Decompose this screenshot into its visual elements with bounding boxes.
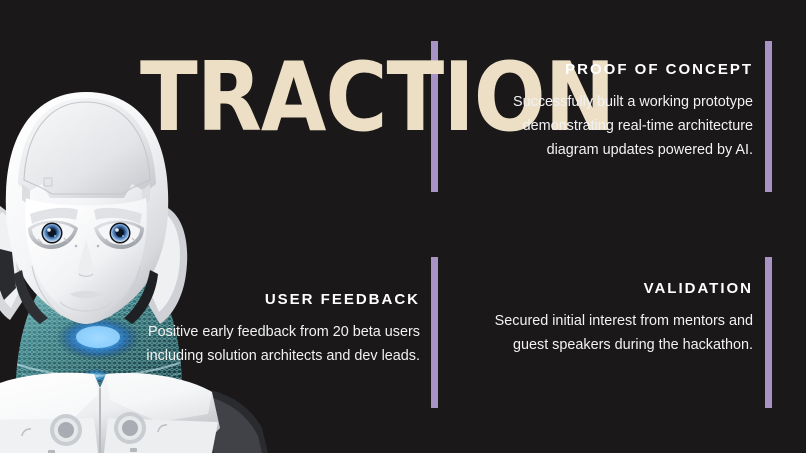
body-validation: Secured initial interest from mentors an… — [478, 309, 753, 357]
presentation-slide: TRACTION PROOF OF CONCEPT Successfully b… — [0, 0, 806, 453]
accent-bar-user-feedback — [431, 257, 438, 408]
text-block-user-feedback: USER FEEDBACK Positive early feedback fr… — [145, 290, 420, 368]
text-block-validation: VALIDATION Secured initial interest from… — [478, 279, 753, 357]
accent-bar-proof-of-concept — [765, 41, 772, 192]
body-user-feedback: Positive early feedback from 20 beta use… — [145, 320, 420, 368]
accent-bar-validation — [765, 257, 772, 408]
heading-user-feedback: USER FEEDBACK — [145, 290, 420, 310]
heading-validation: VALIDATION — [478, 279, 753, 299]
text-block-proof-of-concept: PROOF OF CONCEPT Successfully built a wo… — [478, 60, 753, 162]
body-proof-of-concept: Successfully built a working prototype d… — [478, 90, 753, 162]
slide-title: TRACTION — [140, 48, 427, 148]
heading-proof-of-concept: PROOF OF CONCEPT — [478, 60, 753, 80]
